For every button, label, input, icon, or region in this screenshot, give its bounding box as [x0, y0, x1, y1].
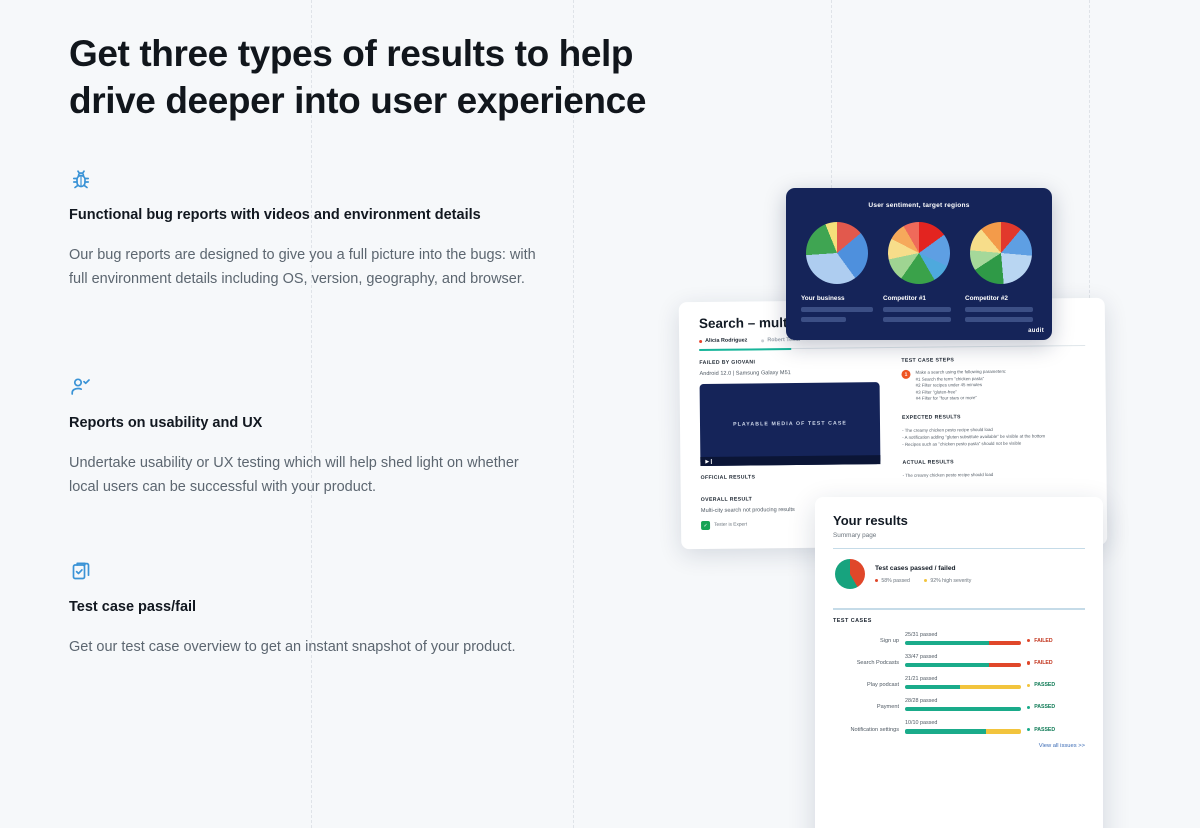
table-row[interactable]: Sign up 25/31 passed FAILED [833, 632, 1085, 645]
audit-badge: audit [1028, 328, 1044, 334]
step-lines: Make a search using the following parame… [916, 369, 1007, 403]
tab-label: Alicia Rodriguez [705, 338, 747, 344]
status-badge: PASSED [1027, 704, 1085, 711]
results-title: Your results [833, 513, 1085, 528]
test-case-count: 21/21 passed [905, 676, 1021, 682]
legend-dot-icon [924, 579, 927, 582]
media-placeholder-label: PLAYABLE MEDIA OF TEST CASE [733, 420, 847, 427]
test-case-step: 1 Make a search using the following para… [902, 368, 1086, 403]
play-icon[interactable]: ▶❙ [705, 458, 713, 464]
test-case-bar-wrap: 10/10 passed [905, 720, 1021, 733]
test-case-steps-label: TEST CASE STEPS [901, 356, 1085, 364]
status-dot-icon [699, 339, 702, 342]
test-case-name: Sign up [833, 638, 899, 645]
failed-by-label: FAILED BY GIOVANI [699, 358, 879, 366]
status-dot-icon [1027, 728, 1030, 731]
results-subtitle: Summary page [833, 532, 1085, 539]
feature-block-test-case: Test case pass/fail Get our test case ov… [69, 559, 516, 659]
pie-chart-group: Your business Competitor #1 Competitor #… [786, 222, 1052, 322]
skeleton-bar [883, 317, 951, 322]
test-case-count: 25/31 passed [905, 632, 1021, 638]
pie-chart [888, 222, 950, 284]
actual-results-list: - The creamy chicken pesto recipe should… [903, 470, 1087, 479]
step-number-badge: 1 [902, 370, 911, 379]
your-results-card: Your results Summary page Test cases pas… [815, 497, 1103, 828]
table-row[interactable]: Notification settings 10/10 passed PASSE… [833, 720, 1085, 733]
pie-chart-competitor-2: Competitor #2 [965, 222, 1037, 322]
skeleton-bar [801, 317, 846, 322]
feature-body: Get our test case overview to get an ins… [69, 635, 516, 659]
pie-chart-your-business: Your business [801, 222, 873, 322]
page-root: Get three types of results to help drive… [0, 0, 1200, 828]
expected-line: - Recipes such as "chicken pesto pasta" … [902, 439, 1086, 448]
test-cases-label: TEST CASES [833, 618, 1085, 624]
clipboard-check-icon [69, 559, 516, 589]
media-player[interactable]: PLAYABLE MEDIA OF TEST CASE ▶❙ [700, 382, 881, 466]
content-column: Get three types of results to help drive… [69, 30, 709, 124]
skeleton-bar [883, 307, 951, 312]
official-results-label: OFFICIAL RESULTS [701, 473, 881, 481]
skeleton-bar [801, 307, 873, 312]
test-case-bar [905, 707, 1021, 711]
test-case-bar-wrap: 21/21 passed [905, 676, 1021, 689]
pie-chart [806, 222, 868, 284]
tester-badge: ✓ Tester is Expert [701, 521, 747, 530]
test-case-name: Notification settings [833, 727, 899, 734]
status-label: PASSED [1034, 682, 1055, 688]
status-label: FAILED [1034, 638, 1052, 644]
status-label: FAILED [1034, 660, 1052, 666]
status-dot-icon [1027, 706, 1030, 709]
summary-row: Test cases passed / failed 58% passed 92… [833, 549, 1085, 599]
summary-legend: 58% passed 92% high severity [875, 578, 971, 584]
test-case-count: 33/47 passed [905, 654, 1021, 660]
user-check-icon [69, 375, 549, 405]
test-case-bar-wrap: 25/31 passed [905, 632, 1021, 645]
skeleton-bar [965, 307, 1033, 312]
status-label: PASSED [1034, 727, 1055, 733]
test-case-name: Play podcast [833, 682, 899, 689]
legend-item-severity: 92% high severity [924, 578, 971, 584]
pie-label: Your business [801, 295, 873, 302]
legend-dot-icon [875, 579, 878, 582]
tester-badge-label: Tester is Expert [714, 523, 747, 528]
status-dot-icon [1027, 684, 1030, 687]
step-line: Make a search using the following parame… [916, 369, 1007, 377]
expected-results-list: - The creamy chicken pesto recipe should… [902, 425, 1086, 448]
legend-item-passed: 58% passed [875, 578, 910, 584]
test-case-bar-wrap: 33/47 passed [905, 654, 1021, 667]
feature-title: Reports on usability and UX [69, 413, 549, 433]
pie-chart [970, 222, 1032, 284]
pie-chart-competitor-1: Competitor #1 [883, 222, 955, 322]
feature-block-usability: Reports on usability and UX Undertake us… [69, 375, 549, 499]
page-title: Get three types of results to help drive… [69, 30, 709, 124]
status-badge: PASSED [1027, 727, 1085, 734]
feature-title: Functional bug reports with videos and e… [69, 205, 549, 225]
feature-title: Test case pass/fail [69, 597, 516, 617]
status-dot-icon [1027, 661, 1030, 664]
feature-block-bug-reports: Functional bug reports with videos and e… [69, 167, 549, 291]
status-dot-icon [1027, 639, 1030, 642]
divider [833, 608, 1085, 609]
expected-results-label: EXPECTED RESULTS [902, 413, 1086, 421]
bug-icon [69, 167, 549, 197]
tab-tester-alicia[interactable]: Alicia Rodriguez [699, 338, 747, 345]
legend-label: 92% high severity [930, 578, 971, 584]
table-row[interactable]: Search Podcasts 33/47 passed FAILED [833, 654, 1085, 667]
expert-badge-icon: ✓ [701, 521, 710, 530]
test-case-bar [905, 641, 1021, 645]
status-badge: PASSED [1027, 682, 1085, 689]
status-dot-icon [761, 339, 764, 342]
sentiment-card: User sentiment, target regions Your busi… [786, 188, 1052, 340]
test-case-count: 28/28 passed [905, 698, 1021, 704]
status-badge: FAILED [1027, 638, 1085, 645]
test-case-name: Search Podcasts [833, 660, 899, 667]
test-case-bar [905, 685, 1021, 689]
product-screenshot-stack: User sentiment, target regions Your busi… [672, 180, 1112, 780]
test-case-name: Payment [833, 704, 899, 711]
view-all-issues-link[interactable]: View all issues >> [833, 743, 1085, 749]
sentiment-card-title: User sentiment, target regions [786, 202, 1052, 209]
test-case-list: Sign up 25/31 passed FAILED Search Podca… [833, 632, 1085, 734]
pie-label: Competitor #2 [965, 295, 1037, 302]
table-row[interactable]: Play podcast 21/21 passed PASSED [833, 676, 1085, 689]
pass-fail-donut-chart [835, 559, 865, 589]
step-line: #4 Filter for "four stars or more" [916, 395, 1007, 403]
table-row[interactable]: Payment 28/28 passed PASSED [833, 698, 1085, 711]
tab-divider [699, 345, 1085, 350]
feature-body: Our bug reports are designed to give you… [69, 243, 549, 291]
actual-line: - The creamy chicken pesto recipe should… [903, 470, 1087, 479]
status-badge: FAILED [1027, 660, 1085, 667]
status-label: PASSED [1034, 704, 1055, 710]
pie-label: Competitor #1 [883, 295, 955, 302]
test-case-bar [905, 663, 1021, 667]
test-case-bar-wrap: 28/28 passed [905, 698, 1021, 711]
media-controls[interactable]: ▶❙ [700, 455, 880, 466]
test-case-count: 10/10 passed [905, 720, 1021, 726]
summary-title: Test cases passed / failed [875, 565, 971, 572]
background-guide-2 [573, 0, 574, 828]
legend-label: 58% passed [881, 578, 910, 584]
feature-body: Undertake usability or UX testing which … [69, 451, 549, 499]
environment-value: Android 12.0 | Samsung Galaxy M51 [699, 369, 879, 377]
test-case-bar [905, 729, 1021, 733]
actual-results-label: ACTUAL RESULTS [902, 458, 1086, 466]
skeleton-bar [965, 317, 1033, 322]
